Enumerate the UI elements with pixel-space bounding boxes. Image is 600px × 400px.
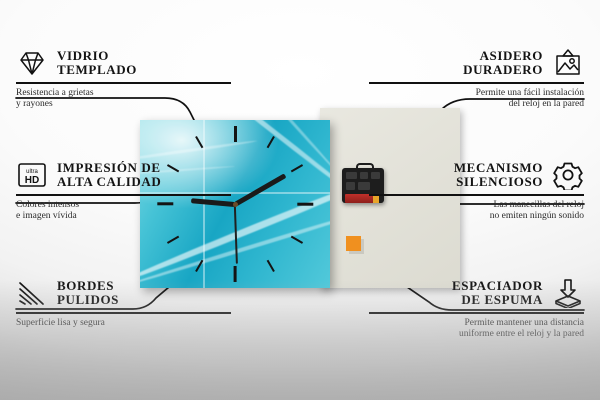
feature-title-line1: ASIDERO: [463, 49, 543, 64]
movement-slot: [346, 182, 355, 190]
feature-title-line2: TEMPLADO: [57, 63, 137, 78]
feature-bordes-pulidos: BORDES PULIDOS Superficie lisa y segura: [16, 278, 231, 329]
feature-title-line1: BORDES: [57, 279, 119, 294]
feature-title: MECANISMO SILENCIOSO: [454, 161, 543, 190]
feature-title-line2: DURADERO: [463, 63, 543, 78]
feature-description: Resistencia a grietas y rayones: [16, 88, 231, 111]
gear-icon: [552, 160, 584, 190]
clock-tick: [234, 126, 237, 142]
feature-title-line2: PULIDOS: [57, 293, 119, 308]
polished-edge-lines-icon: [16, 278, 48, 308]
feature-desc-line2: e imagen vívida: [16, 211, 231, 223]
feature-desc-line2: y rayones: [16, 99, 231, 111]
clock-tick: [291, 236, 303, 244]
feature-divider: [16, 194, 231, 196]
clock-tick: [267, 136, 275, 148]
feature-title-line1: IMPRESIÓN DE: [57, 161, 161, 176]
feature-title-line2: DE ESPUMA: [452, 293, 543, 308]
feature-description: Superficie lisa y segura: [16, 318, 231, 330]
face-streak: [224, 120, 330, 176]
feature-mecanismo-silencioso: MECANISMO SILENCIOSO Las manecillas del …: [369, 160, 584, 223]
clock-tick: [167, 236, 179, 244]
feature-desc-line1: Permite una fácil instalación: [369, 88, 584, 100]
feature-title-line2: SILENCIOSO: [454, 175, 543, 190]
feature-divider: [369, 312, 584, 314]
feature-title: ASIDERO DURADERO: [463, 49, 543, 78]
feature-desc-line2: no emiten ningún sonido: [369, 211, 584, 223]
feature-desc-line1: Resistencia a grietas: [16, 88, 231, 100]
feature-title-line1: VIDRIO: [57, 49, 137, 64]
clock-tick: [234, 266, 237, 282]
feature-impresion-alta-calidad: ultra HD IMPRESIÓN DE ALTA CALIDAD Color…: [16, 160, 231, 223]
feature-desc-line1: Las manecillas del reloj: [369, 200, 584, 212]
feature-divider: [369, 82, 584, 84]
feature-desc-line2: uniforme entre el reloj y la pared: [369, 329, 584, 341]
feature-divider: [16, 82, 231, 84]
movement-slot: [346, 172, 357, 179]
clock-tick: [267, 260, 275, 272]
feature-description: Las manecillas del reloj no emiten ningú…: [369, 200, 584, 223]
feature-divider: [369, 194, 584, 196]
clock-tick: [297, 203, 313, 206]
feature-title: IMPRESIÓN DE ALTA CALIDAD: [57, 161, 161, 190]
movement-slot: [360, 172, 368, 179]
feature-title-line2: ALTA CALIDAD: [57, 175, 161, 190]
feature-description: Permite mantener una distancia uniforme …: [369, 318, 584, 341]
feature-description: Permite una fácil instalación del reloj …: [369, 88, 584, 111]
feature-desc-line1: Permite mantener una distancia: [369, 318, 584, 330]
diamond-icon: [16, 48, 48, 78]
feature-title-line1: MECANISMO: [454, 161, 543, 176]
infographic-canvas: VIDRIO TEMPLADO Resistencia a grietas y …: [0, 0, 600, 400]
feature-desc-line2: del reloj en la pared: [369, 99, 584, 111]
svg-text:HD: HD: [25, 175, 39, 186]
feature-description: Colores intensos e imagen vívida: [16, 200, 231, 223]
feature-vidrio-templado: VIDRIO TEMPLADO Resistencia a grietas y …: [16, 48, 231, 111]
arrow-down-onto-pad-icon: [552, 278, 584, 308]
feature-espaciador-de-espuma: ESPACIADOR DE ESPUMA Permite mantener un…: [369, 278, 584, 341]
feature-desc-line1: Colores intensos: [16, 200, 231, 212]
clock-tick: [291, 164, 303, 172]
feature-divider: [16, 312, 231, 314]
minute-hand: [234, 173, 287, 206]
feature-title-line1: ESPACIADOR: [452, 279, 543, 294]
feature-desc-line1: Superficie lisa y segura: [16, 318, 231, 330]
feature-title: BORDES PULIDOS: [57, 279, 119, 308]
feature-asidero-duradero: ASIDERO DURADERO Permite una fácil insta…: [369, 48, 584, 111]
foam-spacer-pad: [346, 236, 361, 251]
framed-picture-hanger-icon: [552, 48, 584, 78]
feature-title: VIDRIO TEMPLADO: [57, 49, 137, 78]
ultra-hd-icon: ultra HD: [16, 160, 48, 190]
clock-center-cap: [233, 202, 238, 207]
feature-title: ESPACIADOR DE ESPUMA: [452, 279, 543, 308]
